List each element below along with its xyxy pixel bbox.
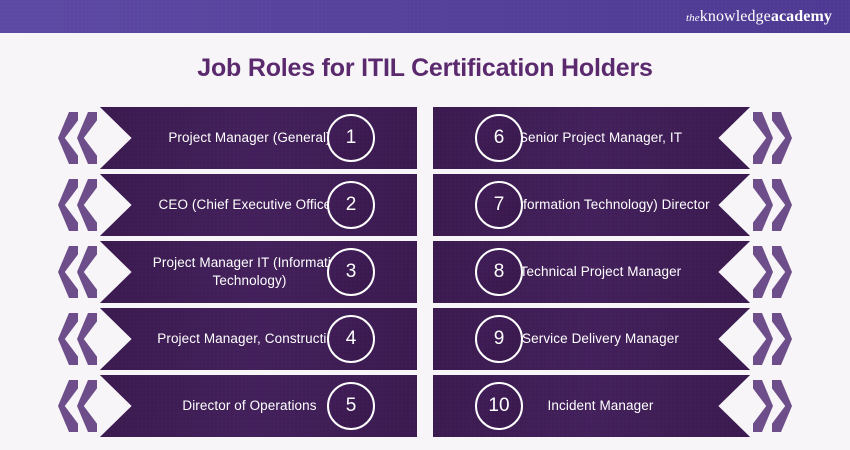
role-label: Technical Project Manager [520,263,682,281]
role-item-6[interactable]: Senior Project Manager, IT 6 [433,106,792,170]
role-label: CEO (Chief Executive Officer) [159,196,341,214]
role-item-9[interactable]: Service Delivery Manager 9 [433,307,792,371]
role-item-10[interactable]: Incident Manager 10 [433,374,792,438]
chevron-right-icon [750,374,792,438]
chevron-left-icon [58,240,100,304]
role-label: Project Manager, Construction [157,330,342,348]
table-row: Project Manager, Construction 4 Service … [58,307,792,371]
brand-the: the [686,12,700,24]
role-number-badge: 7 [475,181,523,229]
role-label: Project Manager (General) [168,129,330,147]
chevron-left-icon [58,106,100,170]
table-row: Project Manager (General) 1 Senior Proje… [58,106,792,170]
table-row: Project Manager IT (Information Technolo… [58,240,792,304]
role-number-badge: 10 [475,382,523,430]
role-number-badge: 6 [475,114,523,162]
chevron-right-icon [750,173,792,237]
chevron-left-icon [58,173,100,237]
role-number-badge: 1 [327,114,375,162]
role-label: Director of Operations [182,397,316,415]
brand-knowledge: knowledge [700,8,771,25]
role-label: Service Delivery Manager [522,330,679,348]
role-number-badge: 8 [475,248,523,296]
table-row: CEO (Chief Executive Officer) 2 IT (Info… [58,173,792,237]
chevron-left-icon [58,307,100,371]
role-label: IT (Information Technology) Director [491,196,709,214]
role-number-badge: 4 [327,315,375,363]
role-item-1[interactable]: Project Manager (General) 1 [58,106,417,170]
role-number-badge: 3 [327,248,375,296]
chevron-left-icon [58,374,100,438]
role-item-7[interactable]: IT (Information Technology) Director 7 [433,173,792,237]
role-item-2[interactable]: CEO (Chief Executive Officer) 2 [58,173,417,237]
role-number-badge: 9 [475,315,523,363]
role-label: Senior Project Manager, IT [519,129,682,147]
roles-grid: Project Manager (General) 1 Senior Proje… [58,106,792,438]
role-item-8[interactable]: Technical Project Manager 8 [433,240,792,304]
page-title: Job Roles for ITIL Certification Holders [0,54,850,83]
chevron-right-icon [750,307,792,371]
table-row: Director of Operations 5 Incident Manage… [58,374,792,438]
chevron-right-icon [750,106,792,170]
role-number-badge: 5 [327,382,375,430]
role-number-badge: 2 [327,181,375,229]
header-band: theknowledgeacademy [0,0,850,33]
brand-logo: theknowledgeacademy [686,9,832,25]
chevron-right-icon [750,240,792,304]
role-label: Incident Manager [548,397,654,415]
role-item-3[interactable]: Project Manager IT (Information Technolo… [58,240,417,304]
role-item-5[interactable]: Director of Operations 5 [58,374,417,438]
role-item-4[interactable]: Project Manager, Construction 4 [58,307,417,371]
brand-academy: academy [771,8,832,25]
